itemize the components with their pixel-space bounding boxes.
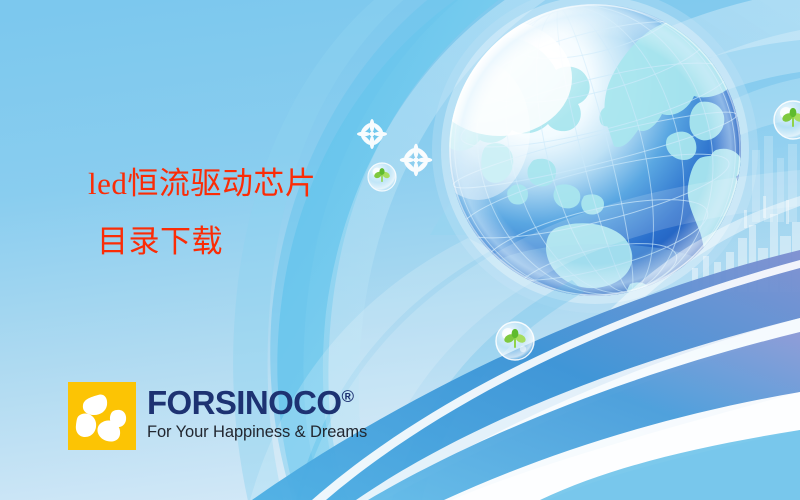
banner-image: led恒流驱动芯片 目录下载 FORSINOCO® [0,0,800,500]
brand-logo: FORSINOCO® For Your Happiness & Dreams [68,382,367,450]
brand-tagline: For Your Happiness & Dreams [147,423,367,442]
four-petal-flower-icon [68,382,136,450]
bubble-sprout-icon [368,163,396,191]
brand-name-text: FORSINOCO [147,384,341,421]
brand-name: FORSINOCO® [147,386,367,419]
registered-mark: ® [341,387,354,406]
brand-text: FORSINOCO® For Your Happiness & Dreams [147,382,367,442]
bubble-sprout-icon [496,322,534,360]
